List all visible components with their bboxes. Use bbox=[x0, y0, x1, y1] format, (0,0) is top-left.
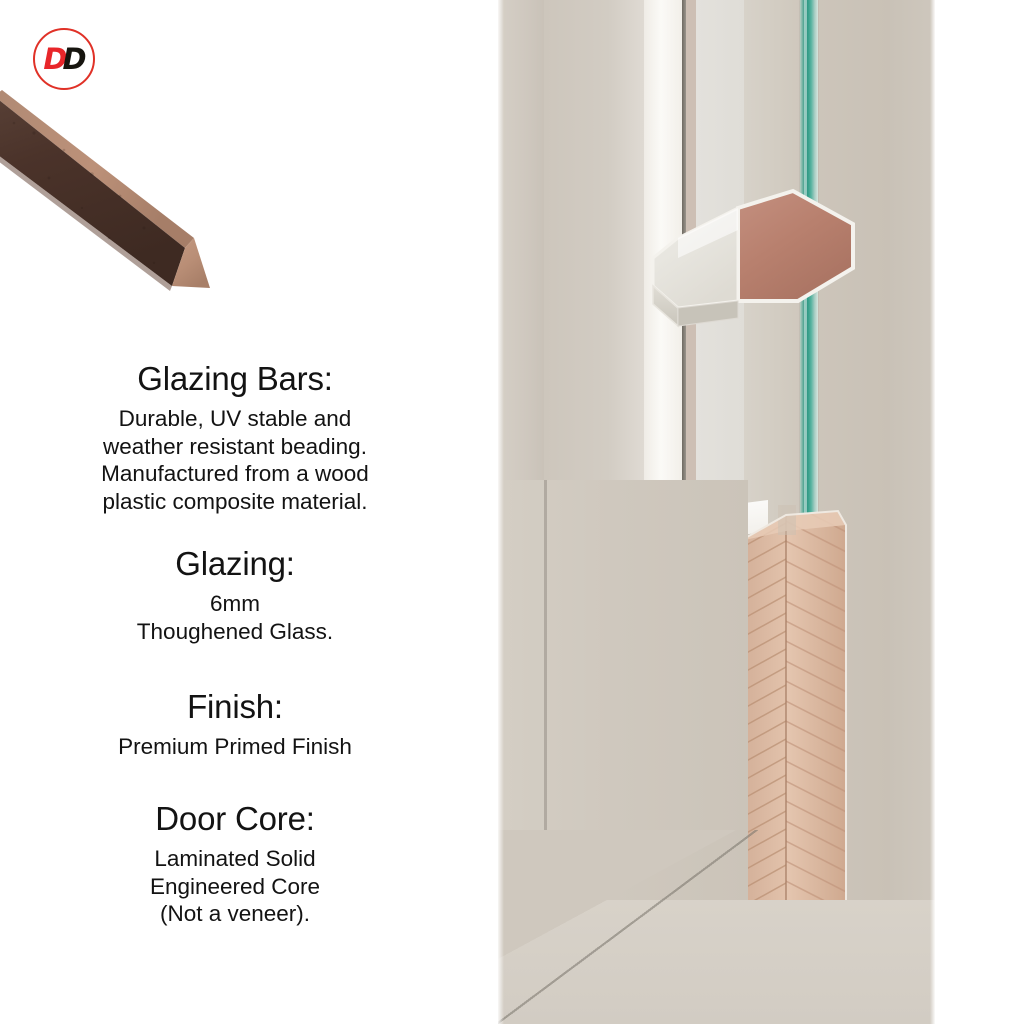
spec-finish-body: Premium Primed Finish bbox=[0, 733, 470, 761]
spec-line: Engineered Core bbox=[0, 873, 470, 901]
spec-door-core-title: Door Core: bbox=[0, 800, 470, 839]
glazing-bar-cutaway-icon bbox=[648, 186, 888, 346]
spec-line: plastic composite material. bbox=[0, 488, 470, 516]
spec-glazing-bars-body: Durable, UV stable and weather resistant… bbox=[0, 405, 470, 516]
spec-glazing-bars-title: Glazing Bars: bbox=[0, 360, 470, 399]
logo-letter-black: D bbox=[63, 45, 85, 74]
glazing-bar-photo bbox=[0, 88, 226, 304]
spec-finish: Finish: Premium Primed Finish bbox=[0, 688, 470, 761]
spec-line: (Not a veneer). bbox=[0, 900, 470, 928]
photo-left-edge-shade bbox=[498, 0, 504, 1024]
door-bottom-edge-line bbox=[498, 830, 758, 1024]
spec-glazing-title: Glazing: bbox=[0, 545, 470, 584]
spec-door-core-body: Laminated Solid Engineered Core (Not a v… bbox=[0, 845, 470, 928]
infographic-page: DD bbox=[0, 0, 1024, 1024]
brand-logo[interactable]: DD bbox=[33, 28, 95, 90]
spec-glazing-body: 6mm Thoughened Glass. bbox=[0, 590, 470, 645]
spec-glazing-bars: Glazing Bars: Durable, UV stable and wea… bbox=[0, 360, 470, 516]
glazing-bar-profile-icon bbox=[0, 88, 226, 304]
spec-glazing: Glazing: 6mm Thoughened Glass. bbox=[0, 545, 470, 645]
spec-line: Thoughened Glass. bbox=[0, 618, 470, 646]
spec-finish-title: Finish: bbox=[0, 688, 470, 727]
specification-panel: DD bbox=[0, 0, 498, 1024]
spec-line: Premium Primed Finish bbox=[0, 733, 470, 761]
spec-line: Manufactured from a wood bbox=[0, 460, 470, 488]
spec-door-core: Door Core: Laminated Solid Engineered Co… bbox=[0, 800, 470, 928]
photo-right-edge-shade bbox=[930, 0, 935, 1024]
spec-line: Laminated Solid bbox=[0, 845, 470, 873]
glazing-bar-cutaway bbox=[648, 186, 888, 346]
spec-line: Durable, UV stable and bbox=[0, 405, 470, 433]
background-band bbox=[890, 0, 935, 1024]
spec-line: weather resistant beading. bbox=[0, 433, 470, 461]
spec-line: 6mm bbox=[0, 590, 470, 618]
logo-letters: DD bbox=[33, 28, 95, 90]
door-cutaway-photo bbox=[498, 0, 935, 1024]
